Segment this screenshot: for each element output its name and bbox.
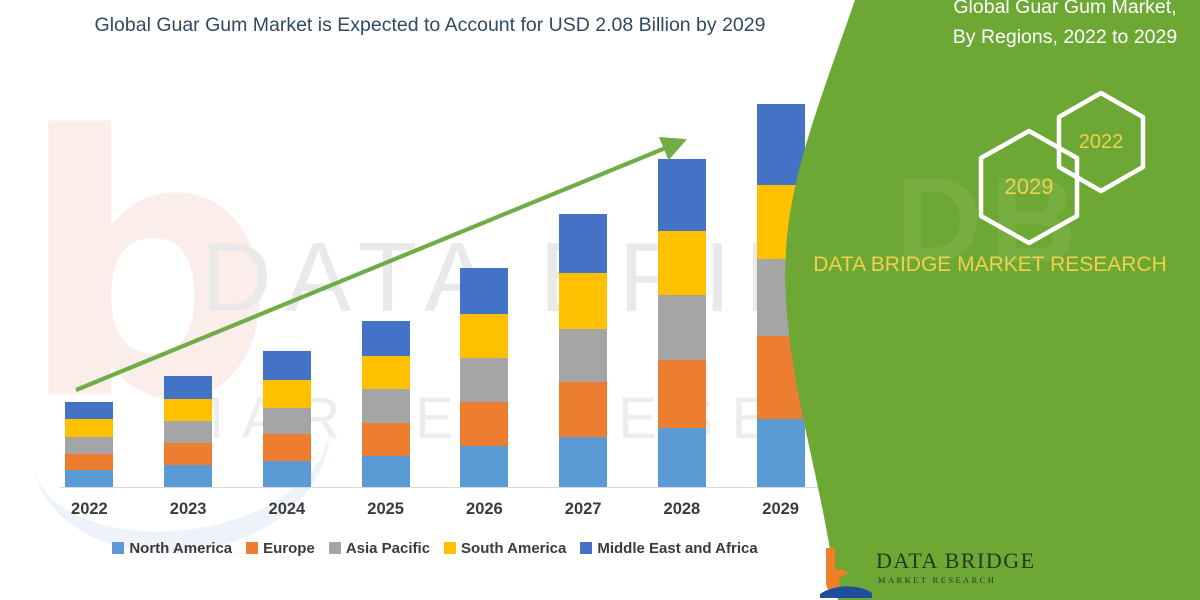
x-axis-tick-label: 2027 — [559, 500, 607, 519]
legend-label: Europe — [263, 540, 315, 557]
bar-segment — [65, 454, 113, 471]
data-bridge-logo: DATA BRIDGE MARKET RESEARCH — [802, 542, 1072, 600]
x-axis-tick-label: 2025 — [362, 500, 410, 519]
x-axis-tick-label: 2024 — [263, 500, 311, 519]
bar-segment — [164, 421, 212, 443]
legend-swatch-icon — [112, 542, 124, 554]
legend-label: Middle East and Africa — [597, 540, 757, 557]
legend-item[interactable]: Europe — [246, 540, 315, 557]
x-axis-tick-labels: 20222023202420252026202720282029 — [40, 494, 830, 524]
bar-segment — [164, 465, 212, 487]
bar-segment — [164, 443, 212, 465]
bar-segment — [460, 446, 508, 487]
x-axis-tick-label: 2028 — [658, 500, 706, 519]
chart-title: Global Guar Gum Market is Expected to Ac… — [40, 10, 820, 40]
legend-item[interactable]: South America — [444, 540, 566, 557]
bar-segment — [362, 423, 410, 456]
bar-column — [460, 268, 508, 487]
bar-segment — [658, 428, 706, 487]
logo-name: DATA BRIDGE — [876, 548, 1076, 574]
bar-segment — [559, 382, 607, 437]
brand-panel: DB Global Guar Gum Market, By Regions, 2… — [780, 0, 1200, 600]
bar-segment — [460, 268, 508, 314]
bar-segment — [362, 456, 410, 487]
bar-column — [164, 376, 212, 487]
legend-item[interactable]: Asia Pacific — [329, 540, 430, 557]
legend-swatch-icon — [246, 542, 258, 554]
bar-segment — [460, 402, 508, 446]
hexagon-end-year-label: 2029 — [1005, 174, 1054, 200]
bar-segment — [65, 402, 113, 419]
hexagon-start-year: 2022 — [1054, 90, 1148, 194]
legend-item[interactable]: Middle East and Africa — [580, 540, 757, 557]
bar-segment — [559, 273, 607, 328]
bar-segment — [559, 437, 607, 487]
bar-column — [559, 214, 607, 487]
bar-segment — [65, 419, 113, 437]
legend-swatch-icon — [444, 542, 456, 554]
bridge-logo-icon — [820, 546, 872, 598]
panel-title: Global Guar Gum Market, By Regions, 2022… — [940, 0, 1190, 52]
bar-segment — [658, 231, 706, 296]
bar-segment — [263, 380, 311, 408]
legend-swatch-icon — [580, 542, 592, 554]
bar-segment — [362, 389, 410, 422]
legend-item[interactable]: North America — [112, 540, 232, 557]
bar-column — [362, 321, 410, 487]
bar-segment — [658, 360, 706, 428]
bar-segment — [559, 214, 607, 273]
stacked-bar-group — [40, 100, 830, 487]
bar-column — [658, 159, 706, 487]
chart-plot-area — [40, 100, 830, 488]
bar-segment — [164, 376, 212, 398]
bar-segment — [362, 356, 410, 389]
bar-segment — [263, 461, 311, 487]
panel-brand-name: DATA BRIDGE MARKET RESEARCH — [810, 250, 1170, 280]
bar-column — [65, 402, 113, 487]
x-axis-line — [60, 487, 830, 488]
bar-segment — [559, 329, 607, 382]
bar-column — [263, 351, 311, 487]
logo-tagline: MARKET RESEARCH — [878, 575, 1078, 585]
bar-segment — [164, 399, 212, 421]
bar-segment — [65, 470, 113, 487]
x-axis-tick-label: 2026 — [460, 500, 508, 519]
bar-segment — [658, 295, 706, 360]
chart-legend: North AmericaEuropeAsia PacificSouth Ame… — [40, 535, 830, 561]
x-axis-tick-label: 2023 — [164, 500, 212, 519]
bar-segment — [263, 408, 311, 434]
bar-segment — [263, 434, 311, 462]
legend-label: South America — [461, 540, 566, 557]
bar-segment — [263, 351, 311, 380]
x-axis-tick-label: 2022 — [65, 500, 113, 519]
bar-segment — [658, 159, 706, 231]
hexagon-start-year-label: 2022 — [1079, 131, 1124, 154]
legend-label: North America — [129, 540, 232, 557]
bar-segment — [460, 358, 508, 402]
bar-segment — [362, 321, 410, 356]
bar-segment — [460, 314, 508, 358]
bar-segment — [65, 437, 113, 454]
legend-swatch-icon — [329, 542, 341, 554]
infographic-root: b DATA BRIDGE MARKET RESEARCH Global Gua… — [0, 0, 1200, 600]
legend-label: Asia Pacific — [346, 540, 430, 557]
